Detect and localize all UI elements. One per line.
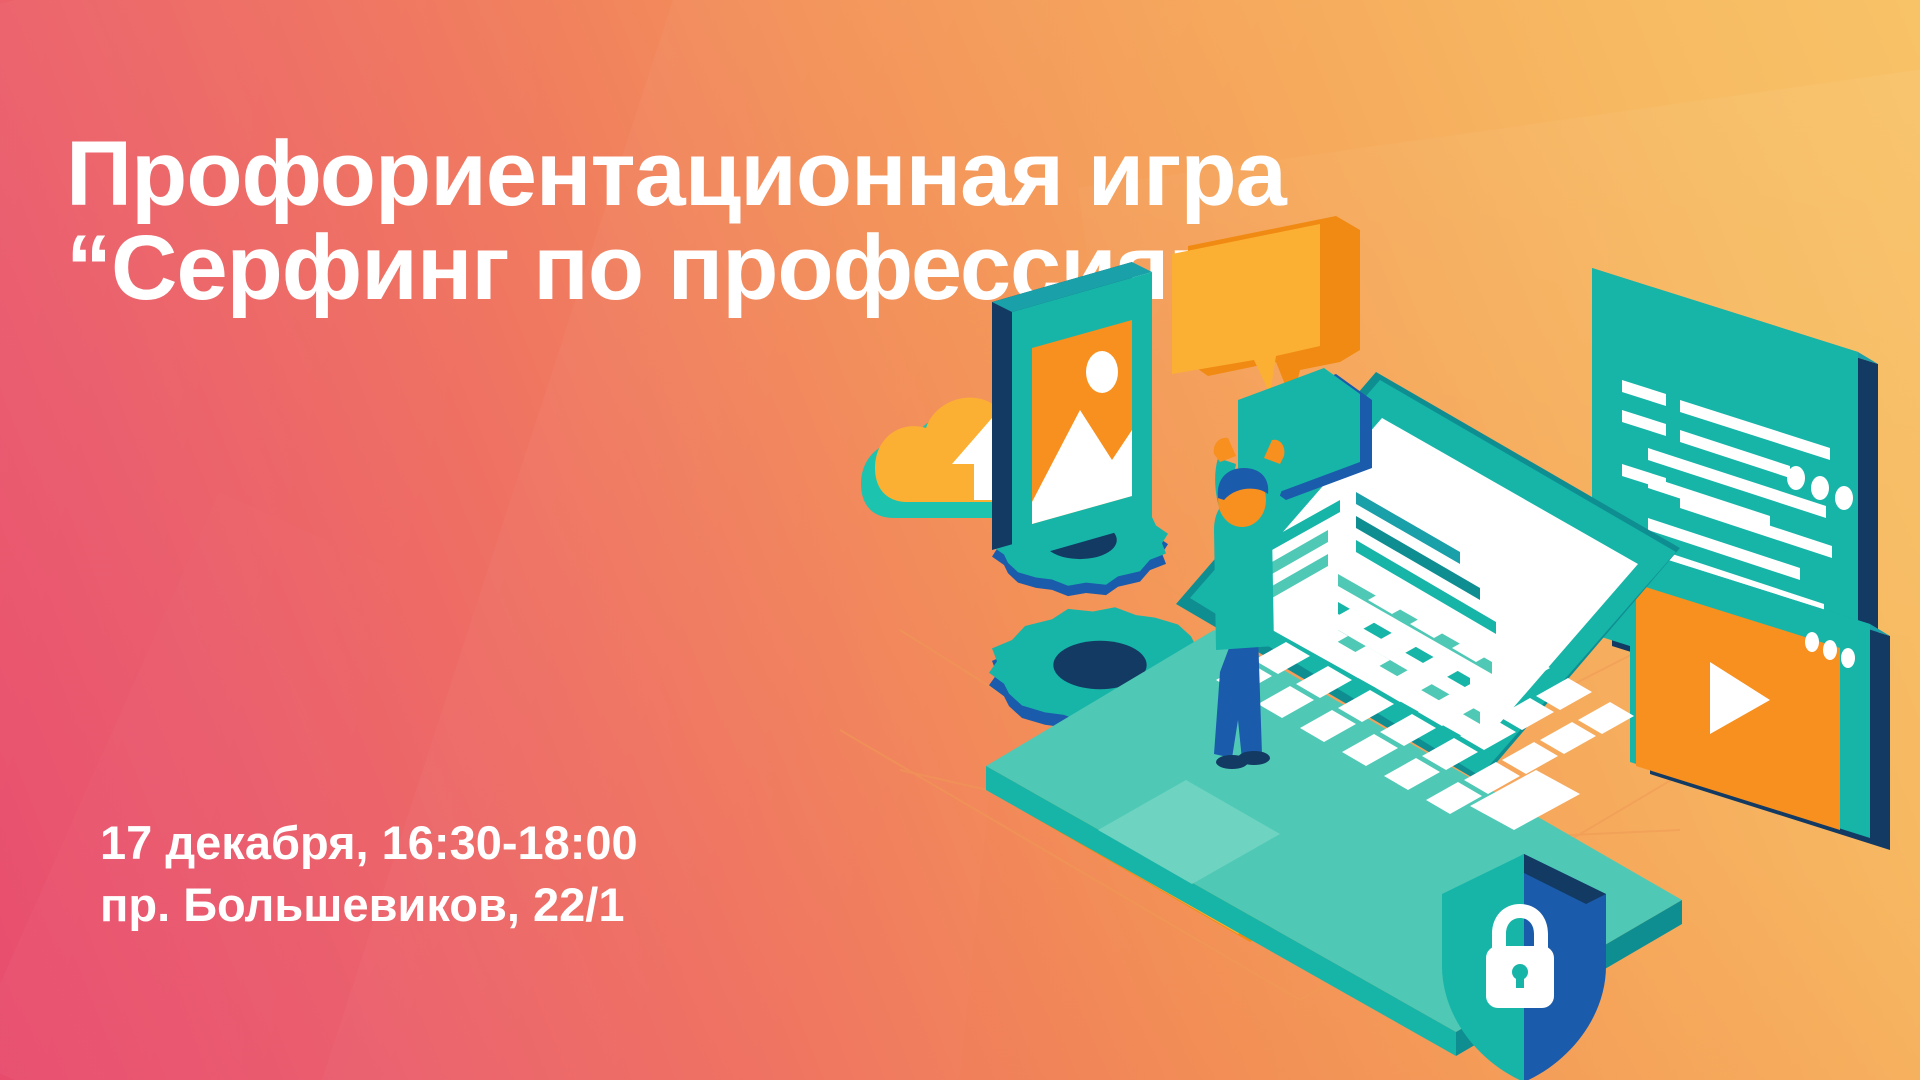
bg-facet	[0, 492, 913, 1080]
event-datetime: 17 декабря, 16:30-18:00	[100, 812, 860, 874]
promo-banner: Профориентационная игра “Серфинг по проф…	[0, 0, 1920, 1080]
event-details: 17 декабря, 16:30-18:00 пр. Большевиков,…	[100, 812, 860, 936]
event-address: пр. Большевиков, 22/1	[100, 874, 860, 936]
image-frame-icon	[992, 262, 1152, 562]
isometric-illustration	[780, 210, 1920, 1080]
